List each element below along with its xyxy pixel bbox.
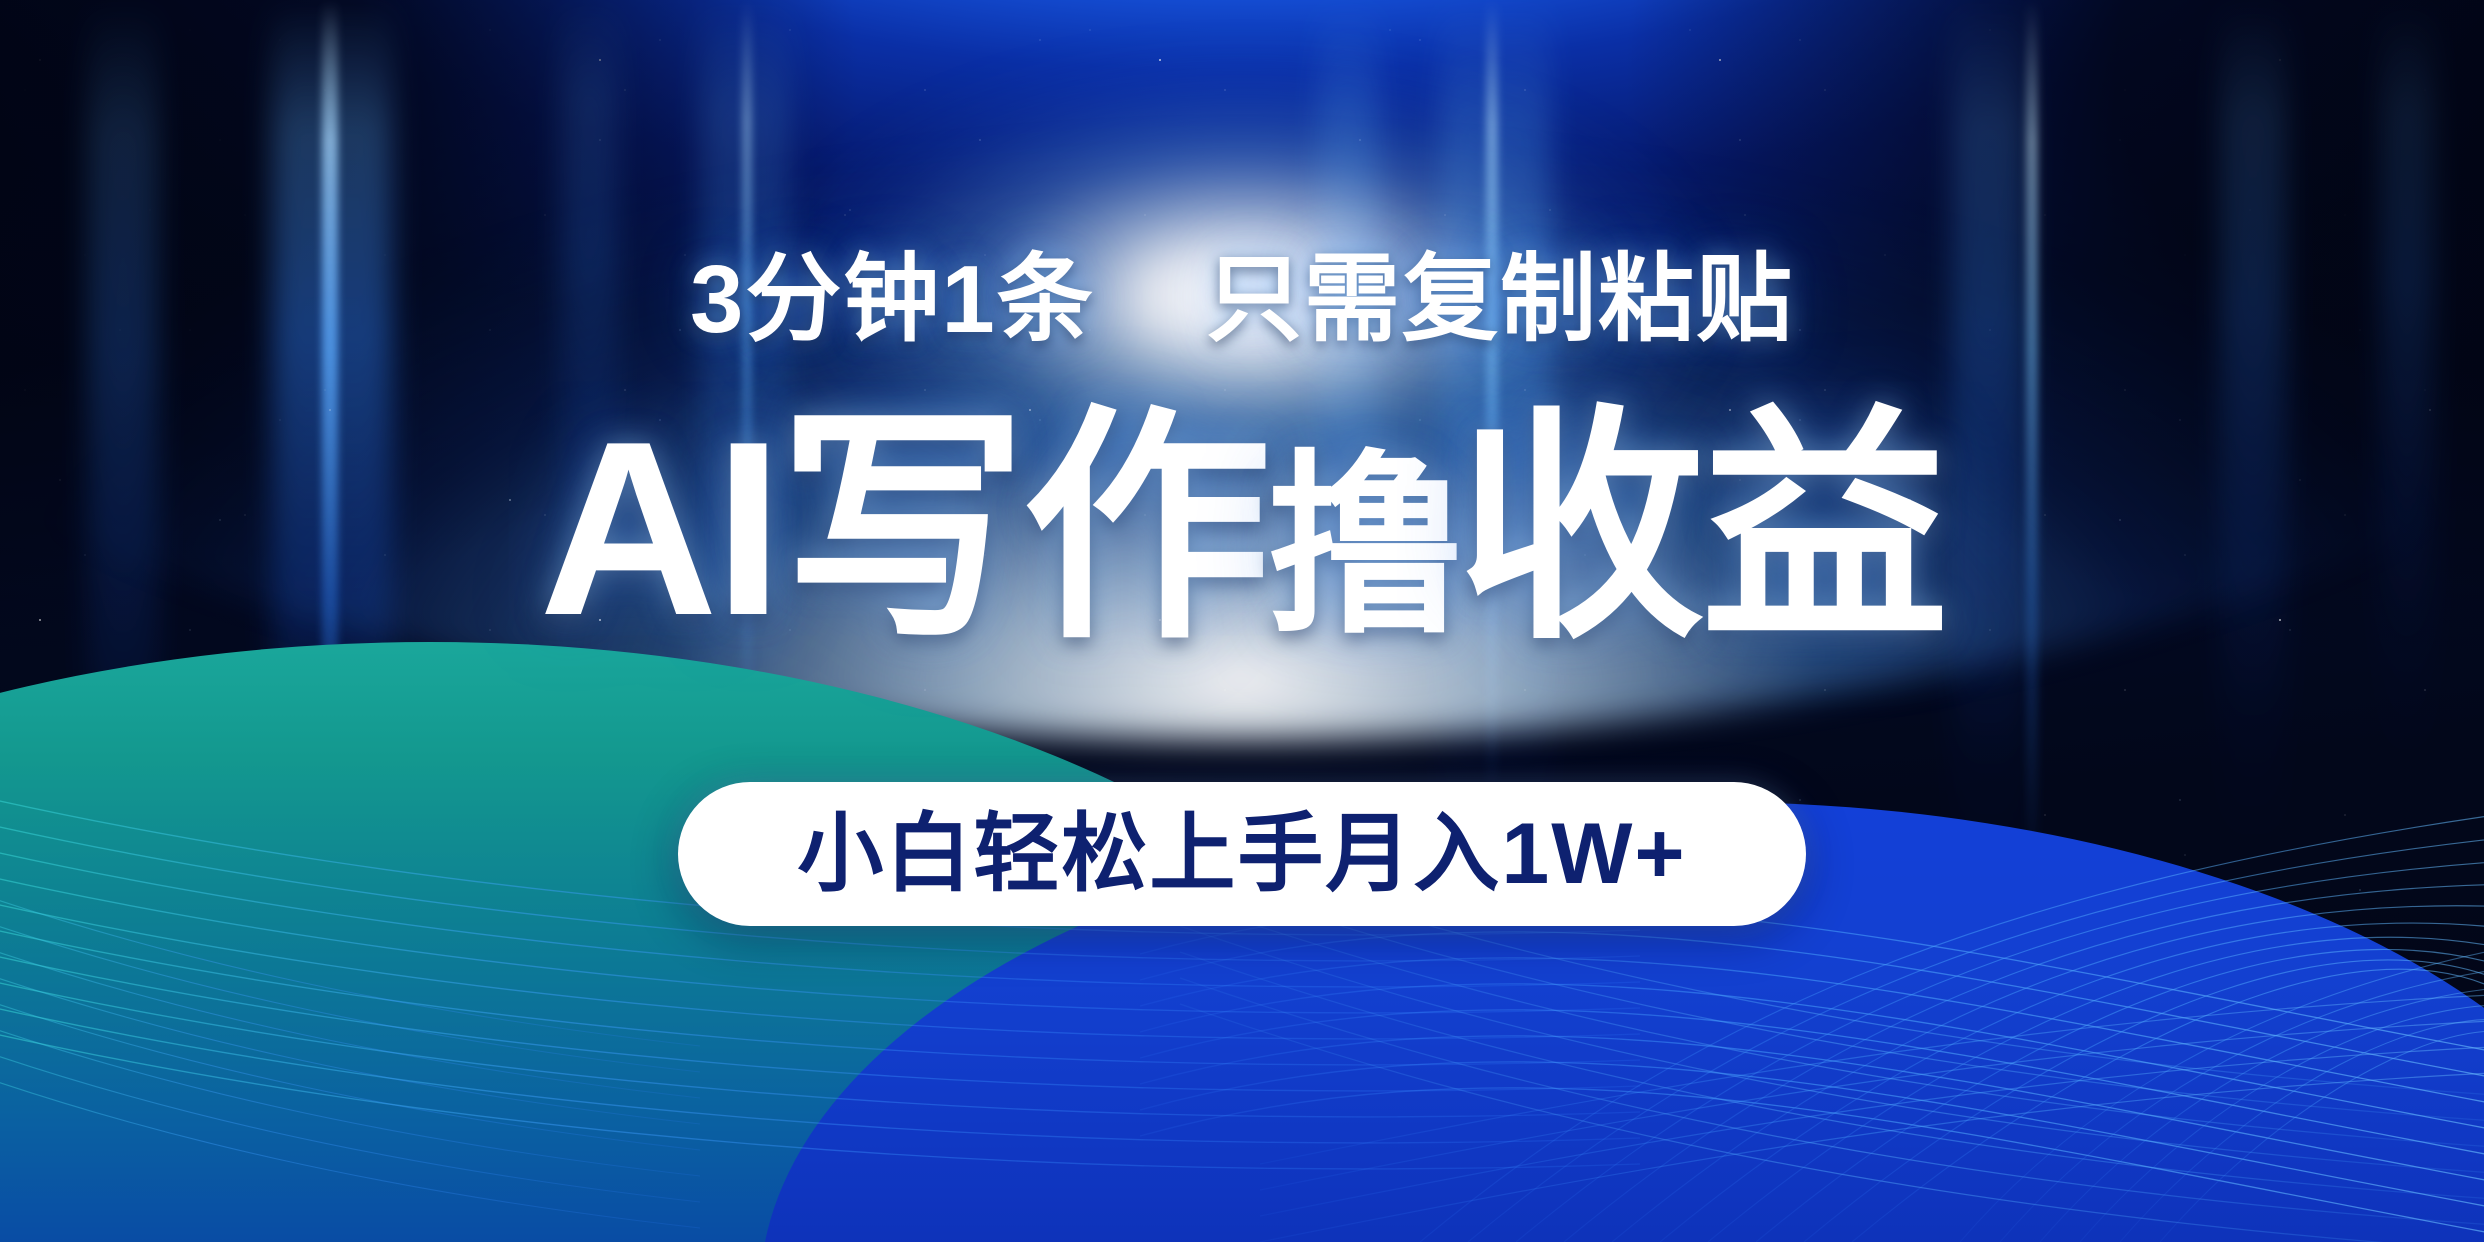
poster-canvas: 3分钟1条 只需复制粘贴 AI写作撸收益 小白轻松上手月入1W+	[0, 0, 2484, 1242]
headline-part-revenue: 收益	[1457, 389, 1945, 667]
poster-content: 3分钟1条 只需复制粘贴 AI写作撸收益 小白轻松上手月入1W+	[0, 0, 2484, 1242]
headline-part-lu: 撸	[1267, 437, 1457, 656]
headline-part-ai-writing: AI写作	[539, 389, 1267, 667]
page-title: AI写作撸收益	[0, 398, 2484, 658]
kicker-left-text: 3分钟1条	[690, 246, 1095, 353]
kicker-right-text: 只需复制粘贴	[1206, 246, 1794, 353]
status-badge-label: 小白轻松上手月入1W+	[797, 811, 1686, 897]
status-badge: 小白轻松上手月入1W+	[678, 782, 1806, 926]
kicker-line: 3分钟1条 只需复制粘贴	[0, 252, 2484, 348]
